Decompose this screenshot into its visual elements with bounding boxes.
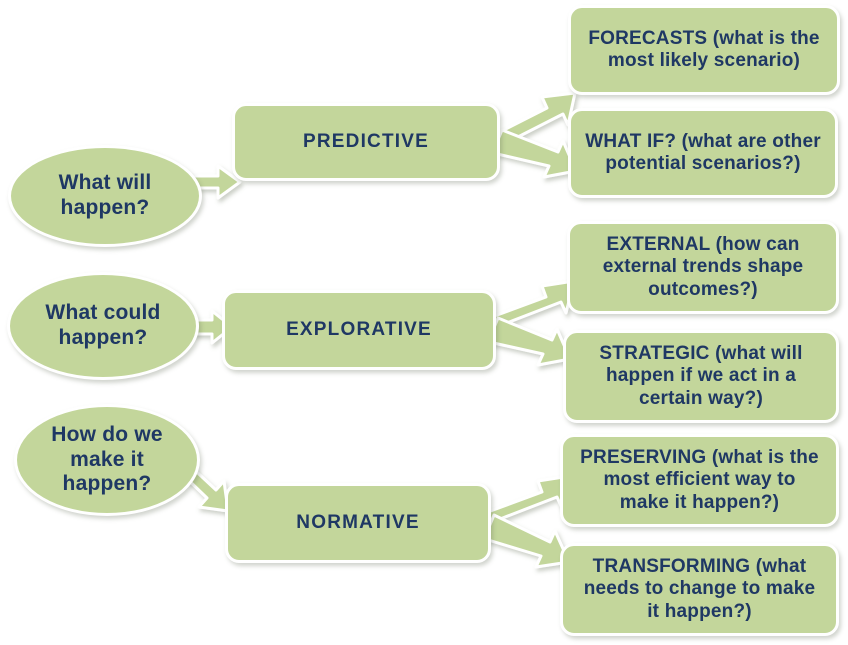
connector-explorative-to-strategic [489, 318, 570, 365]
connector-explorative-to-external [489, 281, 574, 330]
question-node-what-could-happen[interactable]: What could happen? [7, 272, 199, 380]
outcome-label-what-if: WHAT IF? (what are other potential scena… [579, 131, 827, 176]
stage-node-predictive[interactable]: PREDICTIVE [232, 103, 500, 181]
outcome-label-strategic: STRATEGIC (what will happen if we act in… [574, 343, 828, 410]
stage-label-normative: NORMATIVE [228, 512, 488, 534]
question-label-1: What will happen? [11, 171, 199, 221]
outcome-node-external[interactable]: EXTERNAL (how can external trends shape … [567, 221, 839, 314]
stage-node-explorative[interactable]: EXPLORATIVE [222, 290, 496, 370]
stage-label-predictive: PREDICTIVE [235, 131, 497, 153]
outcome-label-transforming: TRANSFORMING (what needs to change to ma… [571, 556, 828, 623]
outcome-node-preserving[interactable]: PRESERVING (what is the most efficient w… [560, 434, 839, 527]
question-label-3: How do we make it happen? [17, 423, 197, 497]
question-node-how-do-we-make-it-happen[interactable]: How do we make it happen? [14, 404, 200, 516]
question-node-what-will-happen[interactable]: What will happen? [8, 145, 202, 247]
outcome-label-forecasts: FORECASTS (what is the most likely scena… [579, 28, 829, 73]
connector-predictive-to-forecasts [492, 93, 575, 148]
outcome-label-preserving: PRESERVING (what is the most efficient w… [571, 447, 828, 514]
outcome-node-what-if[interactable]: WHAT IF? (what are other potential scena… [568, 108, 838, 198]
outcome-node-forecasts[interactable]: FORECASTS (what is the most likely scena… [568, 5, 840, 95]
stage-node-normative[interactable]: NORMATIVE [225, 483, 491, 563]
outcome-label-external: EXTERNAL (how can external trends shape … [578, 234, 828, 301]
question-label-2: What could happen? [10, 301, 196, 351]
connector-predictive-to-whatif [493, 130, 576, 177]
outcome-node-transforming[interactable]: TRANSFORMING (what needs to change to ma… [560, 543, 839, 636]
connector-normative-to-preserving [485, 476, 570, 525]
stage-label-explorative: EXPLORATIVE [225, 319, 493, 341]
outcome-node-strategic[interactable]: STRATEGIC (what will happen if we act in… [563, 330, 839, 423]
scenario-typology-diagram: What will happen? What could happen? How… [0, 0, 848, 645]
connector-normative-to-transforming [485, 515, 569, 567]
